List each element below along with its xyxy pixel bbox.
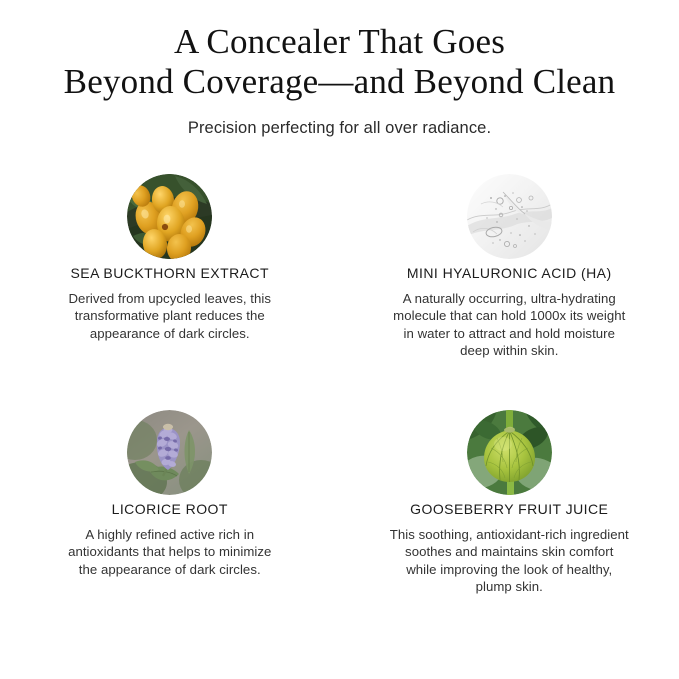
hyaluronic-acid-gel-image — [467, 174, 552, 259]
description-line: while improving the look of healthy, — [366, 561, 654, 578]
ingredient-title: SEA BUCKTHORN EXTRACT — [26, 264, 314, 282]
thumbnail-wrap — [366, 168, 654, 260]
sea-buckthorn-berries-image — [127, 174, 212, 259]
licorice-root-flower-image — [127, 410, 212, 495]
ingredient-card-sea-buckthorn: SEA BUCKTHORN EXTRACT Derived from upcyc… — [0, 168, 340, 404]
description-line: antioxidants that helps to minimize — [26, 543, 314, 560]
ingredient-description: This soothing, antioxidant-rich ingredie… — [366, 526, 654, 596]
description-line: plump skin. — [366, 578, 654, 595]
description-line: Derived from upcycled leaves, this — [26, 290, 314, 307]
description-line: transformative plant reduces the — [26, 307, 314, 324]
page-subtitle: Precision perfecting for all over radian… — [0, 117, 679, 139]
thumbnail-wrap — [366, 404, 654, 496]
ingredient-benefits-page: A Concealer That Goes Beyond Coverage—an… — [0, 0, 679, 679]
ingredient-grid: SEA BUCKTHORN EXTRACT Derived from upcyc… — [0, 168, 679, 632]
description-line: molecule that can hold 1000x its weight — [366, 307, 654, 324]
description-line: soothes and maintains skin comfort — [366, 543, 654, 560]
ingredient-title: LICORICE ROOT — [26, 500, 314, 518]
thumbnail-wrap — [26, 168, 314, 260]
description-line: in water to attract and hold moisture — [366, 325, 654, 342]
description-line: A highly refined active rich in — [26, 526, 314, 543]
ingredient-description: A highly refined active rich in antioxid… — [26, 526, 314, 578]
ingredient-title: GOOSEBERRY FRUIT JUICE — [366, 500, 654, 518]
description-line: appearance of dark circles. — [26, 325, 314, 342]
thumbnail-wrap — [26, 404, 314, 496]
description-line: A naturally occurring, ultra-hydrating — [366, 290, 654, 307]
ingredient-description: Derived from upcycled leaves, this trans… — [26, 290, 314, 342]
page-title-line-1: A Concealer That Goes — [0, 22, 679, 62]
description-line: the appearance of dark circles. — [26, 561, 314, 578]
gooseberry-fruit-image — [467, 410, 552, 495]
ingredient-description: A naturally occurring, ultra-hydrating m… — [366, 290, 654, 360]
page-title-line-2: Beyond Coverage—and Beyond Clean — [0, 62, 679, 102]
page-title: A Concealer That Goes Beyond Coverage—an… — [0, 22, 679, 102]
ingredient-card-hyaluronic-acid: MINI HYALURONIC ACID (HA) A naturally oc… — [340, 168, 679, 404]
page-header: A Concealer That Goes Beyond Coverage—an… — [0, 0, 679, 139]
description-line: deep within skin. — [366, 342, 654, 359]
ingredient-title: MINI HYALURONIC ACID (HA) — [366, 264, 654, 282]
ingredient-card-gooseberry: GOOSEBERRY FRUIT JUICE This soothing, an… — [340, 404, 679, 632]
description-line: This soothing, antioxidant-rich ingredie… — [366, 526, 654, 543]
ingredient-card-licorice-root: LICORICE ROOT A highly refined active ri… — [0, 404, 340, 632]
